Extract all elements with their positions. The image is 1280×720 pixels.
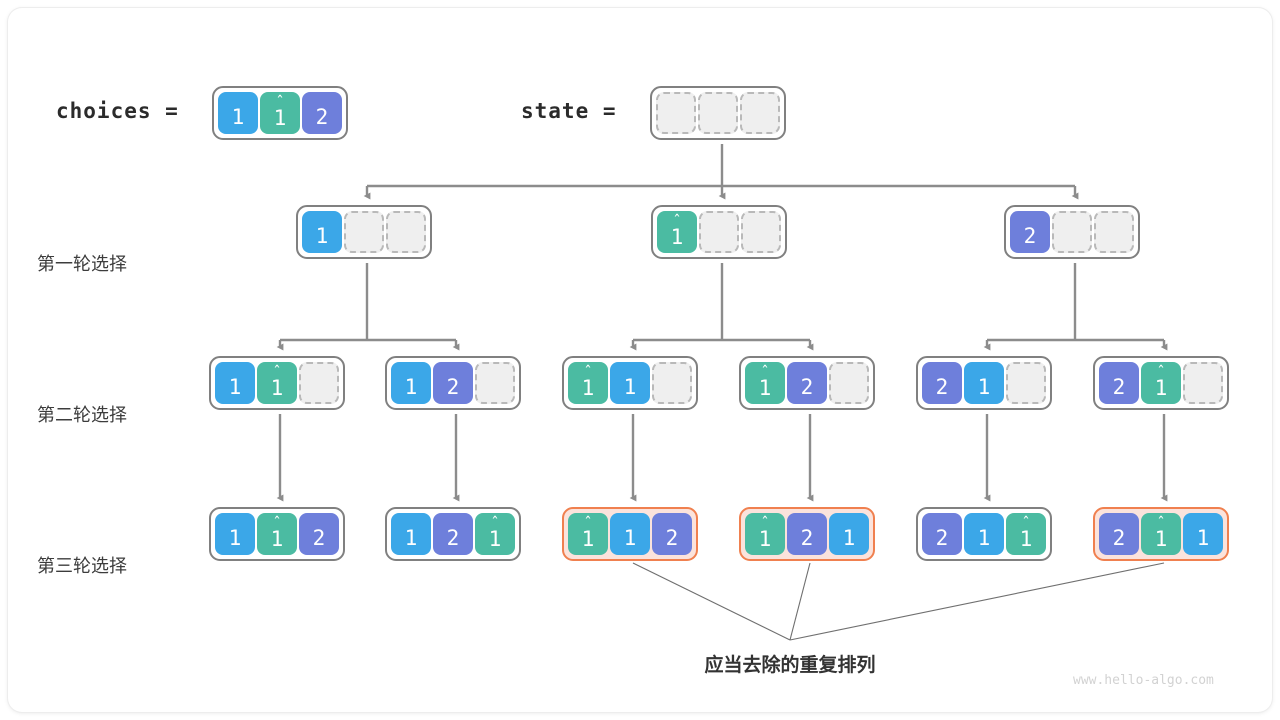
array-cell: 1 [829,513,869,555]
round2-node-5: 2ˆ1 [1093,356,1229,410]
round2-node-1: 12 [385,356,521,410]
array-cell: ˆ1 [745,513,785,555]
array-cell-value: 2 [801,528,814,549]
array-cell: 2 [787,362,827,404]
array-cell: 2 [1010,211,1050,253]
array-cell-value: 2 [316,107,329,128]
array-cell-empty [344,211,384,253]
array-cell-value: 1 [405,528,418,549]
array-cell: 1 [610,362,650,404]
array-cell: 2 [299,513,339,555]
array-cell: ˆ1 [568,513,608,555]
annotation-caption: 应当去除的重复排列 [704,650,875,677]
round3-node-0: 1ˆ12 [209,507,345,561]
row-label-round1: 第一轮选择 [37,250,127,276]
round1-node-2: 2 [1004,205,1140,259]
array-cell: ˆ1 [260,92,300,134]
array-cell-value: 1 [405,377,418,398]
diagram-canvas: choices = 1ˆ12 state = 第一轮选择 第二轮选择 第三轮选择… [0,0,1280,720]
array-cell-value: 1 [978,528,991,549]
array-cell-value: 1 [274,108,287,129]
array-cell-value: 2 [313,528,326,549]
array-cell-empty [656,92,696,134]
array-cell-value: 1 [1197,528,1210,549]
array-cell-empty [475,362,515,404]
array-cell: ˆ1 [657,211,697,253]
row-label-round2: 第二轮选择 [37,401,127,427]
array-cell-value: 1 [229,528,242,549]
array-cell: 1 [1183,513,1223,555]
array-cell-value: 2 [936,528,949,549]
array-cell-value: 2 [447,377,460,398]
array-cell: 1 [610,513,650,555]
array-cell-value: 1 [671,227,684,248]
row-label-round3: 第三轮选择 [37,552,127,578]
round2-node-0: 1ˆ1 [209,356,345,410]
array-cell-value: 1 [624,528,637,549]
array-cell: 1 [215,362,255,404]
array-cell: 1 [215,513,255,555]
array-cell-empty [299,362,339,404]
array-cell: 1 [391,362,431,404]
array-cell: 2 [787,513,827,555]
array-cell: 2 [922,362,962,404]
array-cell: ˆ1 [1141,513,1181,555]
array-cell-value: 2 [1113,528,1126,549]
round2-node-4: 21 [916,356,1052,410]
array-cell-value: 1 [1020,529,1033,550]
array-cell-value: 1 [582,529,595,550]
array-cell-value: 1 [1155,378,1168,399]
array-cell: 1 [391,513,431,555]
array-cell: ˆ1 [1006,513,1046,555]
array-cell-value: 2 [936,377,949,398]
array-cell-empty [1094,211,1134,253]
array-cell-empty [829,362,869,404]
array-cell-empty [1183,362,1223,404]
array-cell-empty [386,211,426,253]
array-cell: 2 [433,362,473,404]
array-cell: 1 [218,92,258,134]
choices-array: 1ˆ12 [212,86,348,140]
round3-node-2: ˆ112 [562,507,698,561]
round3-node-4: 21ˆ1 [916,507,1052,561]
array-cell: ˆ1 [257,513,297,555]
round2-node-2: ˆ11 [562,356,698,410]
array-cell-empty [740,92,780,134]
array-cell-value: 2 [447,528,460,549]
round2-node-3: ˆ12 [739,356,875,410]
array-cell-value: 1 [229,377,242,398]
array-cell-value: 1 [843,528,856,549]
array-cell: ˆ1 [745,362,785,404]
choices-label: choices = [56,99,179,123]
round1-node-1: ˆ1 [651,205,787,259]
array-cell-value: 2 [666,528,679,549]
array-cell: 1 [964,513,1004,555]
array-cell-value: 2 [1113,377,1126,398]
state-array [650,86,786,140]
array-cell-value: 1 [759,378,772,399]
array-cell-value: 1 [489,529,502,550]
round3-node-1: 12ˆ1 [385,507,521,561]
array-cell: 2 [652,513,692,555]
array-cell-value: 1 [232,107,245,128]
array-cell-empty [1006,362,1046,404]
state-label: state = [521,99,617,123]
array-cell-value: 2 [1024,226,1037,247]
array-cell: 2 [1099,362,1139,404]
array-cell-value: 1 [271,529,284,550]
array-cell-value: 1 [582,378,595,399]
array-cell: 1 [302,211,342,253]
array-cell: ˆ1 [257,362,297,404]
array-cell-value: 1 [759,529,772,550]
round3-node-3: ˆ121 [739,507,875,561]
array-cell-value: 1 [624,377,637,398]
array-cell: ˆ1 [568,362,608,404]
array-cell: ˆ1 [1141,362,1181,404]
array-cell-empty [652,362,692,404]
array-cell-empty [741,211,781,253]
array-cell: 2 [302,92,342,134]
watermark: www.hello-algo.com [1073,673,1214,688]
array-cell: 2 [433,513,473,555]
array-cell: 1 [964,362,1004,404]
array-cell-value: 1 [316,226,329,247]
array-cell-empty [699,211,739,253]
array-cell-value: 1 [1155,529,1168,550]
array-cell-empty [1052,211,1092,253]
array-cell: 2 [1099,513,1139,555]
array-cell-value: 1 [271,378,284,399]
array-cell-empty [698,92,738,134]
array-cell-value: 1 [978,377,991,398]
array-cell: 2 [922,513,962,555]
round1-node-0: 1 [296,205,432,259]
array-cell: ˆ1 [475,513,515,555]
round3-node-5: 2ˆ11 [1093,507,1229,561]
array-cell-value: 2 [801,377,814,398]
